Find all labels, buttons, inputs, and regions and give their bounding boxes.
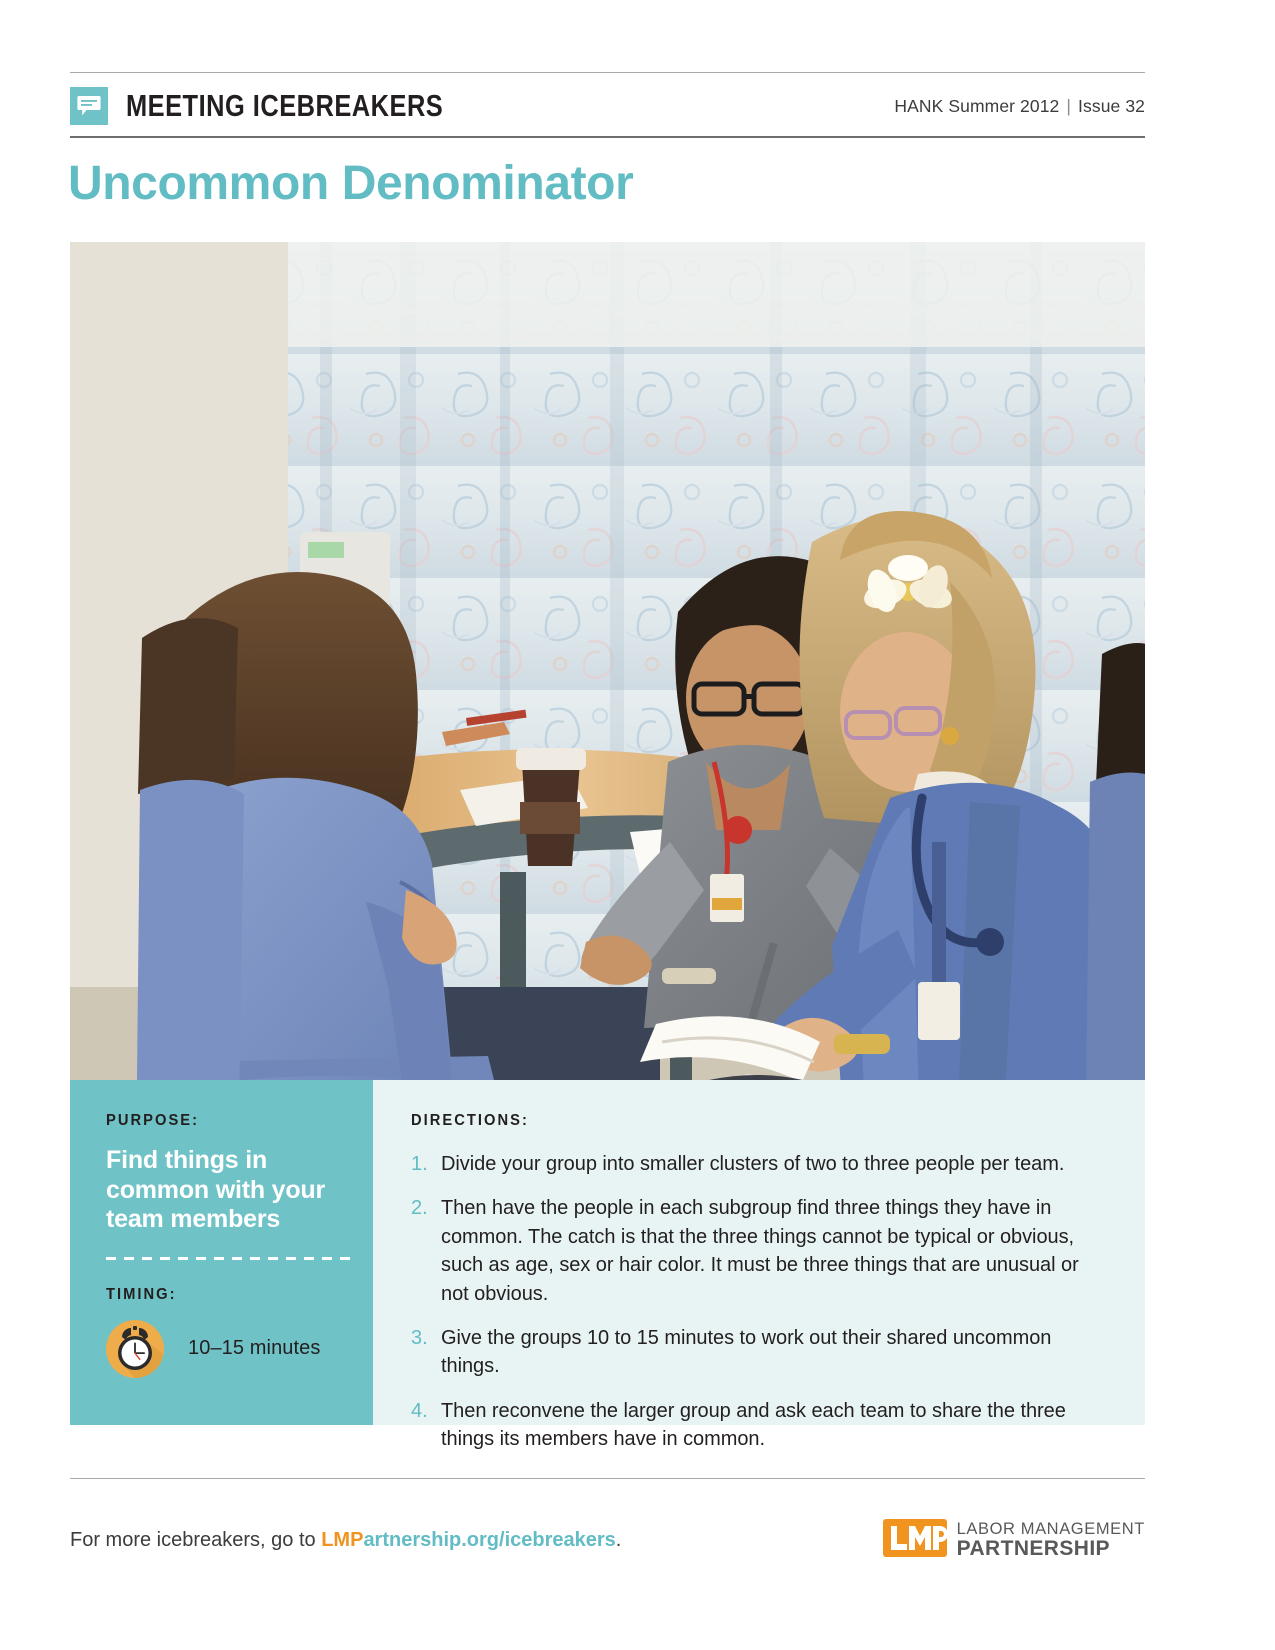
directions-label: DIRECTIONS: [411,1112,1057,1130]
footer-lead: For more icebreakers, go to [70,1529,321,1551]
timing-row: 10–15 minutes [106,1320,343,1378]
list-item-number: 2. [411,1194,441,1308]
list-item-text: Divide your group into smaller clusters … [441,1150,1064,1178]
list-item-number: 1. [411,1150,441,1178]
issue-number: Issue 32 [1078,96,1145,116]
kicker-title: MEETING ICEBREAKERS [126,88,443,124]
timing-label: TIMING: [106,1286,324,1304]
list-item: 2. Then have the people in each subgroup… [411,1194,1113,1308]
lmp-mark-icon [883,1517,947,1564]
lmp-line-2: PARTNERSHIP [957,1538,1145,1559]
lmp-logo: LABOR MANAGEMENT PARTNERSHIP [883,1517,1145,1564]
alarm-clock-icon [106,1320,164,1378]
list-item-text: Then reconvene the larger group and ask … [441,1397,1101,1454]
header-bottom-divider [70,136,1145,138]
info-strip: PURPOSE: Find things in common with your… [70,1080,1145,1425]
footer-period: . [616,1529,622,1551]
list-item-text: Then have the people in each subgroup fi… [441,1194,1101,1308]
publication-label: HANK Summer 2012 [894,96,1059,116]
page: MEETING ICEBREAKERS HANK Summer 2012|Iss… [0,0,1275,1650]
footer-note: For more icebreakers, go to LMPartnershi… [70,1529,621,1552]
purpose-text: Find things in common with your team mem… [106,1146,343,1235]
issue-info: HANK Summer 2012|Issue 32 [894,96,1145,117]
footer-divider [70,1478,1145,1479]
link-url-rest: artnership.org/icebreakers [363,1529,615,1551]
list-item-number: 3. [411,1324,441,1381]
list-item: 3. Give the groups 10 to 15 minutes to w… [411,1324,1113,1381]
lmp-wordmark: LABOR MANAGEMENT PARTNERSHIP [957,1521,1145,1559]
list-item: 4. Then reconvene the larger group and a… [411,1397,1113,1454]
list-item-text: Give the groups 10 to 15 minutes to work… [441,1324,1101,1381]
purpose-panel: PURPOSE: Find things in common with your… [70,1080,373,1425]
purpose-label: PURPOSE: [106,1112,324,1130]
timing-value: 10–15 minutes [188,1337,321,1360]
directions-panel: DIRECTIONS: 1. Divide your group into sm… [373,1080,1145,1425]
list-item: 1. Divide your group into smaller cluste… [411,1150,1113,1178]
footer: For more icebreakers, go to LMPartnershi… [70,1500,1145,1580]
header: MEETING ICEBREAKERS HANK Summer 2012|Iss… [70,80,1145,132]
page-title: Uncommon Denominator [68,156,633,211]
header-top-divider [70,72,1145,73]
icebreakers-link[interactable]: LMPartnership.org/icebreakers [321,1529,616,1551]
lmp-line-1: LABOR MANAGEMENT [957,1521,1145,1538]
activity-photo [70,242,1145,1080]
issue-separator: | [1059,96,1078,116]
directions-list: 1. Divide your group into smaller cluste… [411,1150,1113,1454]
list-item-number: 4. [411,1397,441,1454]
speech-bubble-icon [70,87,108,125]
dashed-divider [106,1257,351,1260]
link-brand-prefix: LMP [321,1529,363,1551]
